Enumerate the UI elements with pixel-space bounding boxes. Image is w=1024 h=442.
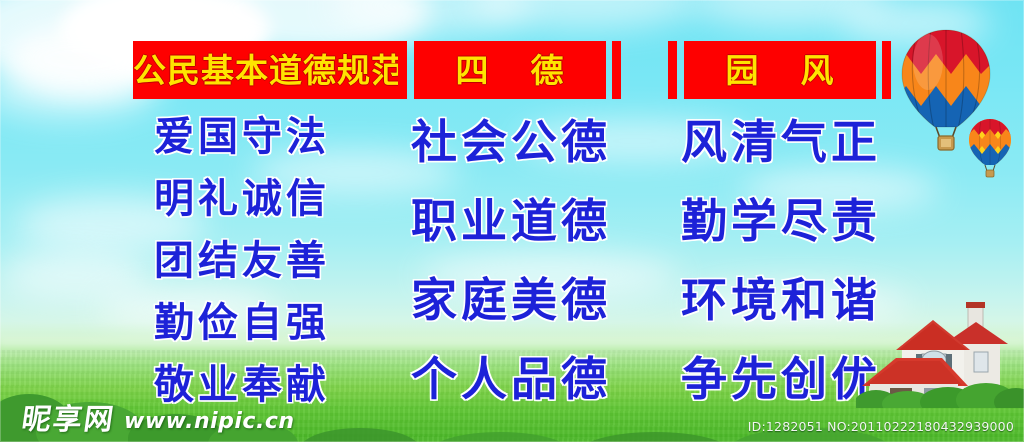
banner-title: 园风 (684, 54, 876, 87)
banner-right-bar (882, 41, 891, 99)
slogan-line: 职业道德 (396, 191, 626, 251)
banner-gap (876, 41, 883, 99)
slogan-column-2: 社会公德 职业道德 家庭美德 个人品德 (396, 112, 626, 428)
slogan-line: 敬业奉献 (133, 360, 351, 410)
slogan-line: 爱国守法 (133, 112, 351, 162)
banner-left-bar (398, 41, 407, 99)
image-id-code: ID:1282051 NO:20110222180432939000 (748, 419, 1014, 434)
slogan-column-1: 爱国守法 明礼诚信 团结友善 勤俭自强 敬业奉献 (133, 112, 351, 422)
banner-gap (606, 41, 613, 99)
slogan-line: 明礼诚信 (133, 174, 351, 224)
poster-canvas: 公民基本道德规范 四德 园风 爱国守法 明礼诚 (0, 0, 1024, 442)
banner-four-virtues: 四德 (398, 41, 621, 99)
banner-plate: 园风 (684, 41, 876, 99)
watermark-url: www.nipic.cn (124, 410, 295, 434)
slogan-line: 风清气正 (666, 112, 896, 172)
banner-left-bar (668, 41, 677, 99)
slogan-line: 团结友善 (133, 236, 351, 286)
banner-title: 公民基本道德规范 (133, 54, 405, 87)
house-illustration (856, 300, 1024, 408)
banner-civic-morality: 公民基本道德规范 (133, 41, 351, 99)
banner-campus-spirit: 园风 (668, 41, 891, 99)
banner-right-bar (612, 41, 621, 99)
banner-gap (677, 41, 684, 99)
banner-row: 公民基本道德规范 四德 园风 (0, 41, 1024, 99)
banner-plate: 公民基本道德规范 (133, 41, 405, 99)
banner-plate: 四德 (414, 41, 606, 99)
hot-air-balloon-icon (968, 118, 1012, 180)
slogan-line: 社会公德 (396, 112, 626, 172)
slogan-line: 勤俭自强 (133, 298, 351, 348)
slogan-line: 勤学尽责 (666, 191, 896, 251)
watermark-logo: 昵享网 (20, 405, 117, 434)
slogan-line: 家庭美德 (396, 270, 626, 330)
watermark: 昵享网 www.nipic.cn (22, 405, 295, 434)
slogan-line: 个人品德 (396, 349, 626, 409)
banner-gap (407, 41, 414, 99)
banner-title: 四德 (414, 54, 606, 87)
